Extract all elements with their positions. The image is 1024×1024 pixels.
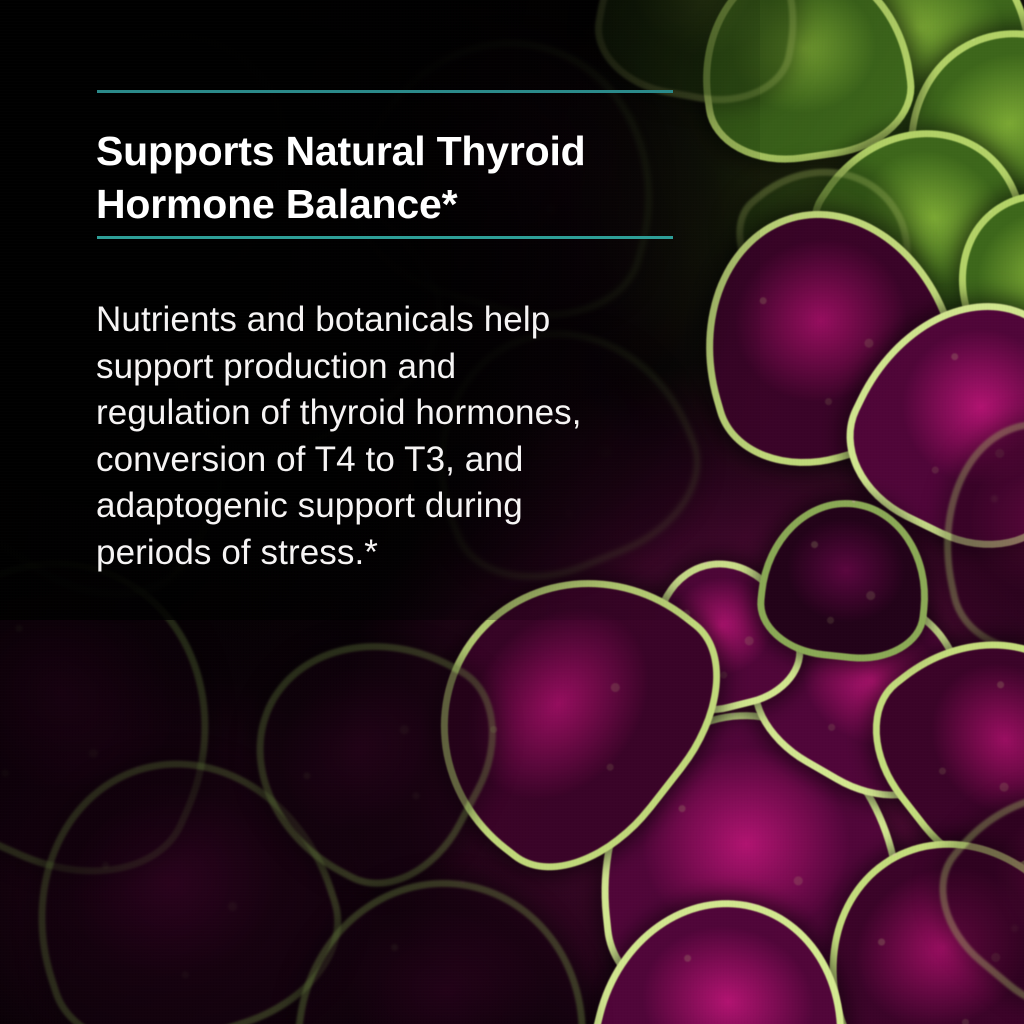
body-line-4: conversion of T4 to T3, and xyxy=(96,437,696,484)
divider-top-rule xyxy=(97,90,673,93)
benefit-card: Supports Natural Thyroid Hormone Balance… xyxy=(0,0,1024,1024)
body-copy: Nutrients and botanicals help support pr… xyxy=(96,297,696,576)
body-line-6: periods of stress.* xyxy=(96,530,696,577)
divider-bottom-rule xyxy=(97,236,673,239)
body-line-5: adaptogenic support during xyxy=(96,483,696,530)
body-line-3: regulation of thyroid hormones, xyxy=(96,390,696,437)
headline-line-2: Hormone Balance* xyxy=(96,178,736,230)
body-line-2: support production and xyxy=(96,344,696,391)
headline-line-1: Supports Natural Thyroid xyxy=(96,125,736,177)
body-line-1: Nutrients and botanicals help xyxy=(96,297,696,344)
card-content: Supports Natural Thyroid Hormone Balance… xyxy=(0,0,1024,1024)
headline: Supports Natural Thyroid Hormone Balance… xyxy=(96,125,736,229)
